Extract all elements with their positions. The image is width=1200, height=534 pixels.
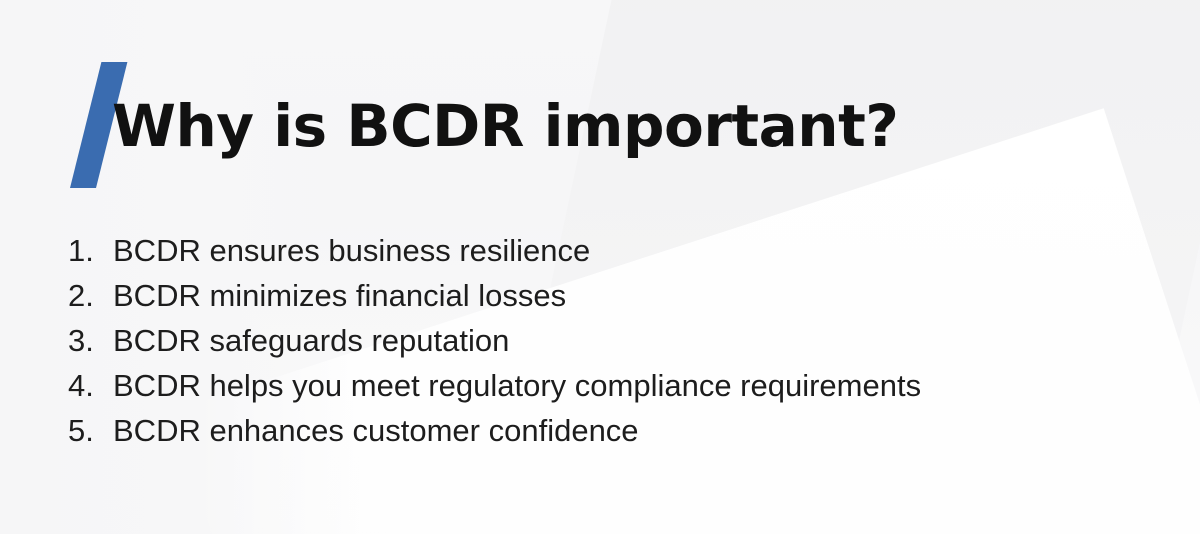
list-item: 5. BCDR enhances customer confidence xyxy=(68,408,921,453)
slide-content: Why is BCDR important? 1. BCDR ensures b… xyxy=(0,0,1200,534)
list-item-label: BCDR helps you meet regulatory complianc… xyxy=(113,363,921,408)
list-item-number: 2. xyxy=(68,273,113,318)
numbered-list: 1. BCDR ensures business resilience 2. B… xyxy=(68,228,921,453)
list-item-number: 5. xyxy=(68,408,113,453)
list-item-label: BCDR minimizes financial losses xyxy=(113,273,566,318)
page-title: Why is BCDR important? xyxy=(112,96,898,157)
list-item-number: 3. xyxy=(68,318,113,363)
list-item: 3. BCDR safeguards reputation xyxy=(68,318,921,363)
list-item: 1. BCDR ensures business resilience xyxy=(68,228,921,273)
list-item-number: 1. xyxy=(68,228,113,273)
list-item-label: BCDR safeguards reputation xyxy=(113,318,509,363)
list-item: 4. BCDR helps you meet regulatory compli… xyxy=(68,363,921,408)
list-item-label: BCDR ensures business resilience xyxy=(113,228,590,273)
list-item-label: BCDR enhances customer confidence xyxy=(113,408,639,453)
slide-canvas: Why is BCDR important? 1. BCDR ensures b… xyxy=(0,0,1200,534)
list-item: 2. BCDR minimizes financial losses xyxy=(68,273,921,318)
list-item-number: 4. xyxy=(68,363,113,408)
